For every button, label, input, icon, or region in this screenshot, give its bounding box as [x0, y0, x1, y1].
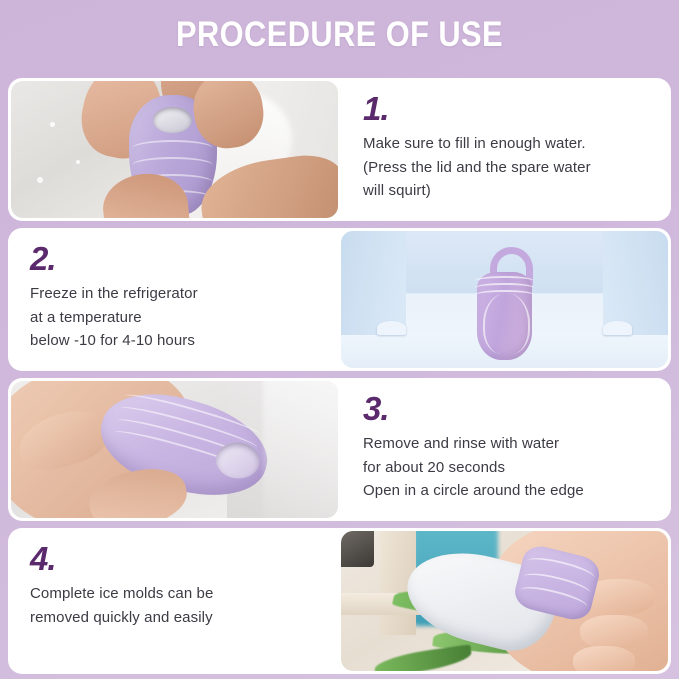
procedure-of-use-infographic: PROCEDURE OF USE — [0, 0, 679, 679]
mold-leaf-pattern-shape — [483, 293, 529, 354]
step-3-number: 3. — [363, 392, 653, 426]
step-1-image-card — [8, 78, 341, 221]
step-3-text-card: 3. Remove and rinse with water for about… — [341, 378, 671, 521]
finger-shape — [573, 646, 635, 671]
water-droplet-shape — [76, 160, 80, 164]
background-shape — [341, 531, 374, 567]
step-4-image-card — [338, 528, 671, 674]
step-row-3: 3. Remove and rinse with water for about… — [8, 378, 671, 521]
shelf-clip-shape — [377, 321, 406, 335]
shelf-clip-shape — [603, 321, 632, 335]
finger-shape — [580, 615, 649, 649]
step-1-photo — [11, 81, 338, 218]
step-row-2: 2. Freeze in the refrigerator at a tempe… — [8, 228, 671, 371]
step-2-photo — [341, 231, 668, 368]
step-3-image-card — [8, 378, 341, 521]
step-4-text-card: 4. Complete ice molds can be removed qui… — [8, 528, 338, 674]
step-3-photo — [11, 381, 338, 518]
step-row-1: 1. Make sure to fill in enough water. (P… — [8, 78, 671, 221]
step-2-text-card: 2. Freeze in the refrigerator at a tempe… — [8, 228, 338, 371]
step-4-text: Complete ice molds can be removed quickl… — [30, 582, 320, 629]
step-4-photo — [341, 531, 668, 671]
water-droplet-shape — [50, 122, 55, 127]
page-title: PROCEDURE OF USE — [41, 12, 639, 58]
steps-grid: 1. Make sure to fill in enough water. (P… — [8, 78, 671, 674]
step-1-text: Make sure to fill in enough water. (Pres… — [363, 132, 653, 203]
water-droplet-shape — [37, 177, 43, 183]
step-2-text: Freeze in the refrigerator at a temperat… — [30, 282, 320, 353]
step-3-text: Remove and rinse with water for about 20… — [363, 432, 653, 503]
mold-opening-shape — [153, 107, 192, 134]
ice-mold-shape — [477, 272, 533, 360]
step-2-number: 2. — [30, 242, 320, 276]
mold-swirl-shape — [132, 157, 213, 173]
step-1-text-card: 1. Make sure to fill in enough water. (P… — [341, 78, 671, 221]
step-row-4: 4. Complete ice molds can be removed qui… — [8, 528, 671, 674]
plant-leaf-shape — [373, 645, 473, 671]
water-sheen-shape — [263, 381, 338, 518]
mold-swirl-shape — [132, 140, 213, 156]
step-4-number: 4. — [30, 542, 320, 576]
step-2-image-card — [338, 228, 671, 371]
step-1-number: 1. — [363, 92, 653, 126]
